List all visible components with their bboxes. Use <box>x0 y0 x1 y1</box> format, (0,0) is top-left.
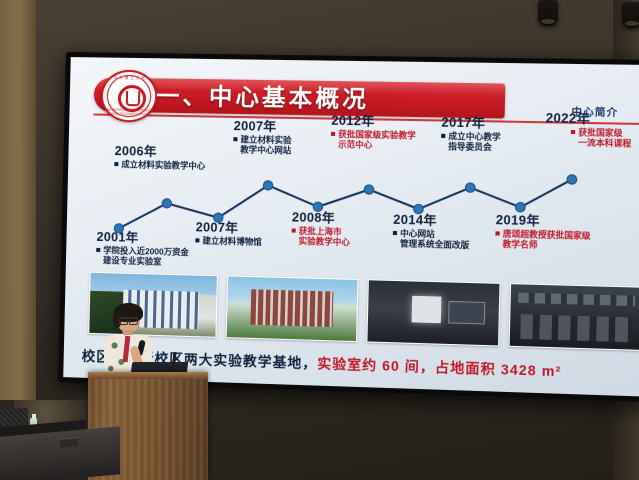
event-year: 2014年 <box>393 213 511 230</box>
event-detail: 中心网站管理系统全面改版 <box>393 228 511 252</box>
event-detail: 获批上海市实验教学中心 <box>291 225 387 248</box>
university-seal-icon: 华 东 理 工 大 学 UNIVERSITY OF SCIENCE AND TE… <box>100 70 158 123</box>
seal-bottom-text: UNIVERSITY OF SCIENCE AND TECHNOLOGY <box>102 108 155 117</box>
wall-panel-left <box>0 0 36 400</box>
event-year: 2008年 <box>292 210 387 226</box>
seal-top-text: 华 东 理 工 大 学 <box>103 76 155 82</box>
slide-photo <box>226 275 358 342</box>
timeline-event: 2019年 唐颂超教授获批国家级教学名师 <box>495 213 630 253</box>
timeline: 2001年 学院投入近2000万资金建设专业实验室 2006年 成立材料实验教学… <box>66 117 639 272</box>
front-table <box>0 426 120 480</box>
event-detail: 获批国家级一流本科课程 <box>571 127 639 150</box>
ceiling-spotlight-icon <box>622 2 639 28</box>
photo-strip <box>88 272 639 351</box>
event-year: 2017年 <box>441 115 551 131</box>
event-detail: 唐颂超教授获批国家级教学名师 <box>495 228 629 252</box>
timeline-event: 2008年 获批上海市实验教学中心 <box>291 210 387 248</box>
presentation-room-scene: 华 东 理 工 大 学 UNIVERSITY OF SCIENCE AND TE… <box>0 0 639 480</box>
event-detail: 学院投入近2000万资金建设专业实验室 <box>96 245 222 269</box>
slide-photo <box>366 279 500 346</box>
event-year: 2006年 <box>114 144 248 161</box>
timeline-event: 2022年 获批国家级一流本科课程 <box>545 111 639 149</box>
slide-photo <box>508 283 639 351</box>
caption-highlight: 实验室约 60 间，占地面积 3428 m² <box>317 356 562 379</box>
event-year: 2022年 <box>546 111 639 127</box>
timeline-event: 2006年 成立材料实验教学中心 <box>114 144 248 172</box>
notepad <box>60 437 78 448</box>
event-detail: 成立中心教学指导委员会 <box>441 131 551 154</box>
timeline-event: 2017年 成立中心教学指导委员会 <box>441 115 551 153</box>
ceiling-spotlight-icon <box>538 0 558 26</box>
glasses-icon <box>119 317 138 323</box>
timeline-event: 2014年 中心网站管理系统全面改版 <box>393 213 511 252</box>
